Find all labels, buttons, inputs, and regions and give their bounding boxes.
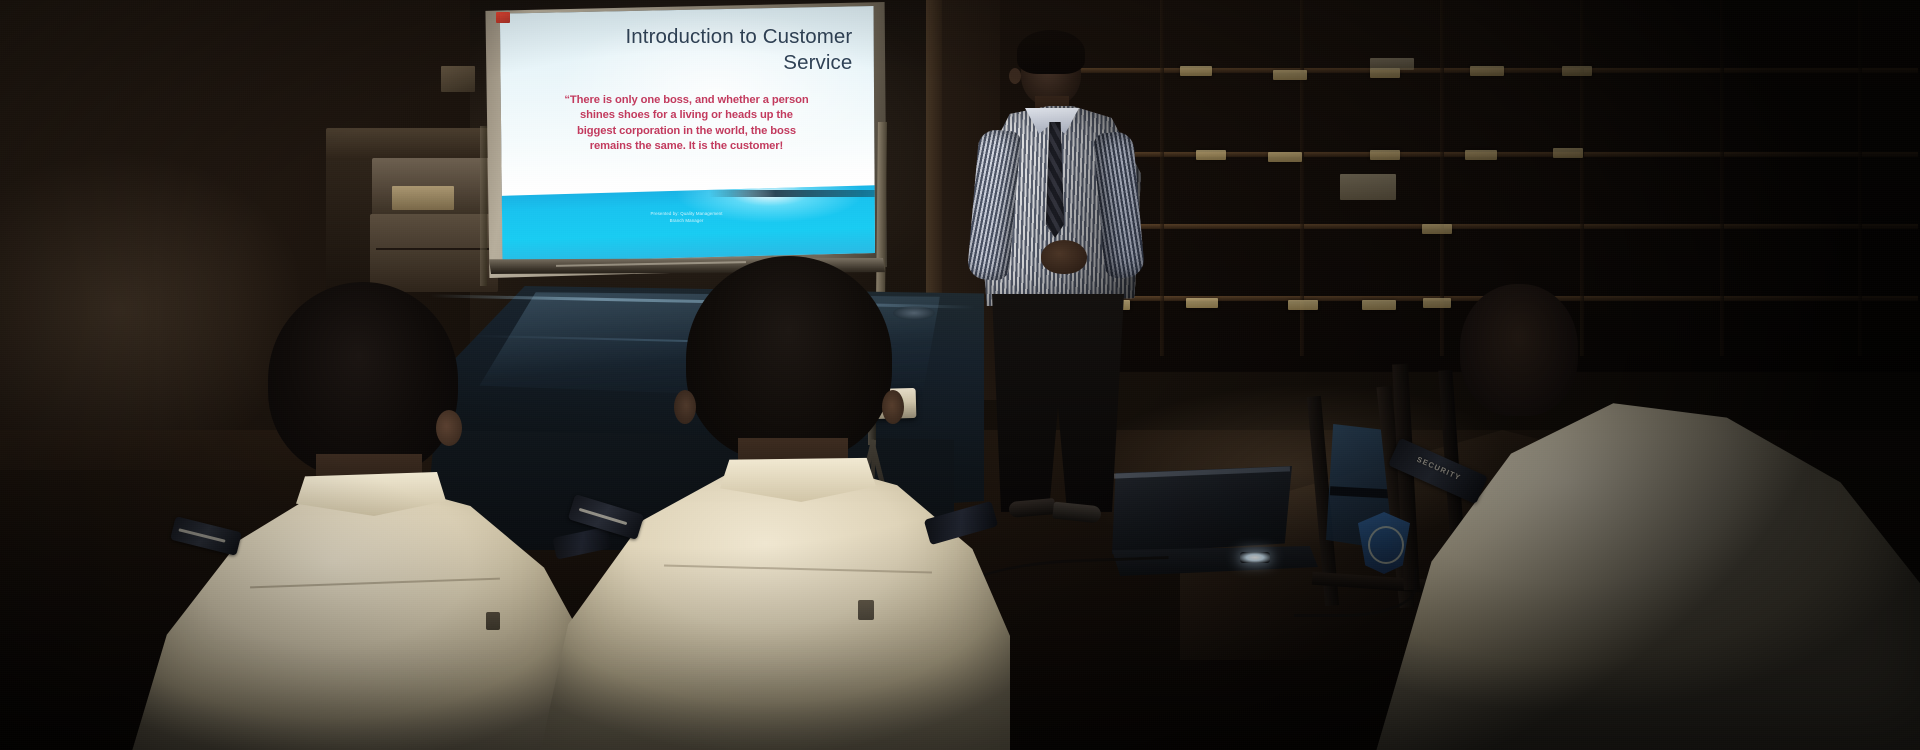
presenter-left-shoe — [1008, 498, 1055, 518]
red-corner-marker-icon — [496, 12, 510, 23]
attendee-center-ear — [882, 390, 904, 424]
attendee-center-hair — [686, 256, 892, 462]
slide-footer-line-2: Branch Manager — [581, 218, 792, 224]
shelf-label — [1196, 150, 1226, 160]
attendee-center — [540, 256, 1010, 750]
attendee-right-head — [1460, 284, 1578, 416]
attendee-left-uniform — [130, 478, 590, 750]
shelf-label — [1465, 150, 1497, 160]
shelf-label — [1422, 224, 1452, 234]
cabinet-drawers — [370, 214, 498, 292]
shelf-papers — [1370, 58, 1414, 70]
attendee-left — [120, 282, 590, 750]
presenter-ear — [1009, 68, 1021, 84]
slide-quote-line-3: biggest corporation in the world, the bo… — [517, 124, 856, 139]
screen-left-post — [480, 126, 487, 286]
shelf-label — [1553, 148, 1583, 158]
attendee-right-patch-emblem — [1368, 526, 1404, 564]
shelf-label — [1180, 66, 1212, 76]
shelf-papers — [1340, 174, 1396, 200]
slide-title-line-1: Introduction to Customer — [521, 24, 853, 50]
photo-scene: Introduction to Customer Service “There … — [0, 0, 1920, 750]
shelf-label — [1186, 298, 1218, 308]
attendee-left-ear — [436, 410, 462, 446]
cabinet-drawer-seam — [376, 248, 492, 250]
laptop-power-led-icon — [1240, 552, 1270, 563]
shelf-divider — [1160, 0, 1164, 356]
shelf-label — [1273, 70, 1307, 80]
cabinet-top — [326, 128, 496, 162]
presenter-hair — [1017, 30, 1085, 74]
shelf-label — [1470, 66, 1504, 76]
laptop-lid — [1112, 466, 1292, 554]
shelf-label — [1370, 150, 1400, 160]
attendee-left-hair — [268, 282, 458, 478]
slide-quote-line-1: “There is only one boss, and whether a p… — [517, 93, 856, 108]
slide-band-shadow — [709, 190, 875, 197]
shelf-label — [1268, 152, 1302, 162]
cabinet-box — [392, 186, 454, 210]
slide-footer-credit: Presented by: Quality Management Branch … — [581, 211, 792, 224]
shelf-row — [1022, 224, 1918, 229]
presenter-hands — [1041, 240, 1087, 274]
attendee-center-epaulette-right — [924, 501, 998, 545]
shelf-label — [1288, 300, 1318, 310]
attendee-right-uniform — [1352, 396, 1920, 750]
projection-screen[interactable]: Introduction to Customer Service “There … — [498, 6, 875, 262]
presentation-slide: Introduction to Customer Service “There … — [498, 6, 875, 262]
attendee-right: SECURITY — [1352, 276, 1920, 750]
slide-title: Introduction to Customer Service — [521, 24, 853, 76]
slide-footer-band: Presented by: Quality Management Branch … — [498, 185, 875, 262]
cabinet-side — [326, 160, 372, 290]
attendee-center-ear — [674, 390, 696, 424]
slide-quote-line-4: remains the same. It is the customer! — [517, 139, 856, 154]
wall-plate — [441, 66, 475, 92]
slide-quote: “There is only one boss, and whether a p… — [517, 93, 856, 154]
slide-quote-line-2: shines shoes for a living or heads up th… — [517, 108, 856, 123]
slide-title-line-2: Service — [521, 50, 853, 76]
attendee-left-badge — [486, 612, 500, 630]
shelf-label — [1562, 66, 1592, 76]
attendee-center-badge — [858, 600, 874, 620]
